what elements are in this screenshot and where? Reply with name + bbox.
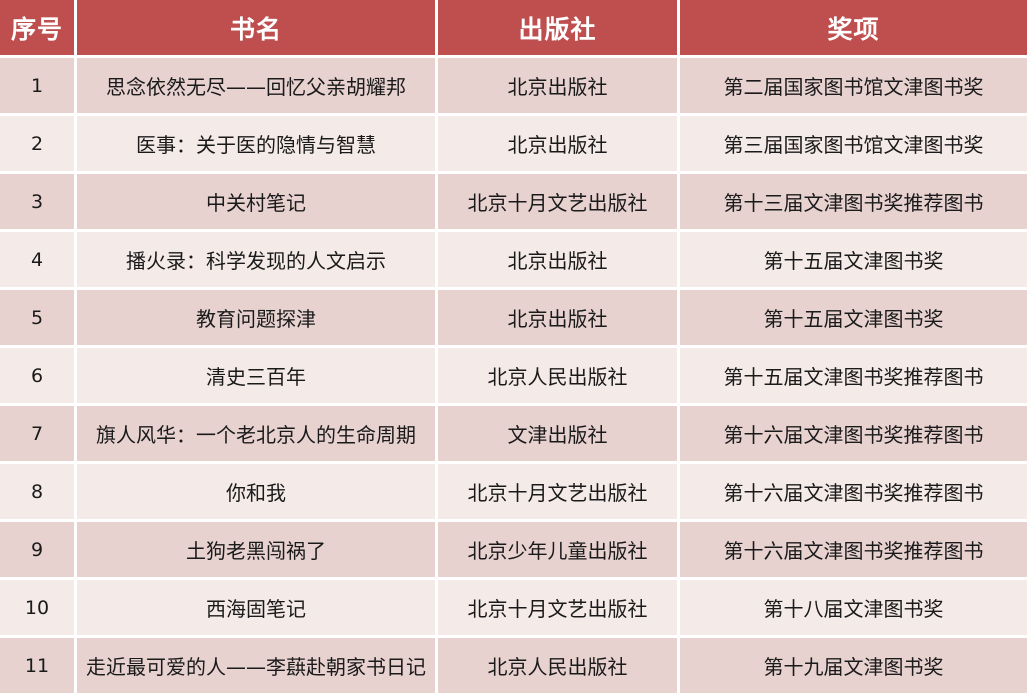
cell-index: 9 <box>0 522 77 580</box>
cell-publisher: 北京出版社 <box>438 232 680 290</box>
cell-award: 第十五届文津图书奖 <box>680 232 1027 290</box>
cell-award: 第二届国家图书馆文津图书奖 <box>680 58 1027 116</box>
table-row: 7旗人风华：一个老北京人的生命周期文津出版社第十六届文津图书奖推荐图书 <box>0 406 1027 464</box>
cell-title: 清史三百年 <box>77 348 438 406</box>
cell-index: 7 <box>0 406 77 464</box>
table-row: 9土狗老黑闯祸了北京少年儿童出版社第十六届文津图书奖推荐图书 <box>0 522 1027 580</box>
table-row: 2医事：关于医的隐情与智慧北京出版社第三届国家图书馆文津图书奖 <box>0 116 1027 174</box>
cell-title: 教育问题探津 <box>77 290 438 348</box>
table-row: 5教育问题探津北京出版社第十五届文津图书奖 <box>0 290 1027 348</box>
cell-index: 11 <box>0 638 77 696</box>
cell-title: 中关村笔记 <box>77 174 438 232</box>
column-header-index: 序号 <box>0 0 77 58</box>
table-header: 序号 书名 出版社 奖项 <box>0 0 1027 58</box>
cell-publisher: 北京人民出版社 <box>438 348 680 406</box>
table-row: 8你和我北京十月文艺出版社第十六届文津图书奖推荐图书 <box>0 464 1027 522</box>
cell-publisher: 北京十月文艺出版社 <box>438 174 680 232</box>
cell-index: 6 <box>0 348 77 406</box>
table-row: 6清史三百年北京人民出版社第十五届文津图书奖推荐图书 <box>0 348 1027 406</box>
table-body: 1思念依然无尽——回忆父亲胡耀邦北京出版社第二届国家图书馆文津图书奖2医事：关于… <box>0 58 1027 696</box>
cell-award: 第十八届文津图书奖 <box>680 580 1027 638</box>
cell-index: 4 <box>0 232 77 290</box>
cell-title: 你和我 <box>77 464 438 522</box>
cell-award: 第十九届文津图书奖 <box>680 638 1027 696</box>
awards-table: 序号 书名 出版社 奖项 1思念依然无尽——回忆父亲胡耀邦北京出版社第二届国家图… <box>0 0 1027 696</box>
table-row: 1思念依然无尽——回忆父亲胡耀邦北京出版社第二届国家图书馆文津图书奖 <box>0 58 1027 116</box>
cell-publisher: 北京出版社 <box>438 290 680 348</box>
cell-index: 5 <box>0 290 77 348</box>
cell-index: 1 <box>0 58 77 116</box>
cell-title: 医事：关于医的隐情与智慧 <box>77 116 438 174</box>
cell-title: 思念依然无尽——回忆父亲胡耀邦 <box>77 58 438 116</box>
column-header-award: 奖项 <box>680 0 1027 58</box>
cell-publisher: 北京出版社 <box>438 58 680 116</box>
cell-publisher: 北京十月文艺出版社 <box>438 580 680 638</box>
cell-publisher: 北京人民出版社 <box>438 638 680 696</box>
cell-publisher: 北京十月文艺出版社 <box>438 464 680 522</box>
cell-award: 第十六届文津图书奖推荐图书 <box>680 522 1027 580</box>
cell-index: 3 <box>0 174 77 232</box>
cell-award: 第十三届文津图书奖推荐图书 <box>680 174 1027 232</box>
cell-publisher: 北京出版社 <box>438 116 680 174</box>
cell-publisher: 北京少年儿童出版社 <box>438 522 680 580</box>
cell-award: 第三届国家图书馆文津图书奖 <box>680 116 1027 174</box>
cell-title: 西海固笔记 <box>77 580 438 638</box>
cell-title: 播火录：科学发现的人文启示 <box>77 232 438 290</box>
cell-publisher: 文津出版社 <box>438 406 680 464</box>
cell-award: 第十五届文津图书奖 <box>680 290 1027 348</box>
cell-title: 走近最可爱的人——李蕻赴朝家书日记 <box>77 638 438 696</box>
cell-index: 2 <box>0 116 77 174</box>
cell-award: 第十六届文津图书奖推荐图书 <box>680 464 1027 522</box>
cell-award: 第十五届文津图书奖推荐图书 <box>680 348 1027 406</box>
table-header-row: 序号 书名 出版社 奖项 <box>0 0 1027 58</box>
column-header-publisher: 出版社 <box>438 0 680 58</box>
table-row: 10西海固笔记北京十月文艺出版社第十八届文津图书奖 <box>0 580 1027 638</box>
table-row: 4播火录：科学发现的人文启示北京出版社第十五届文津图书奖 <box>0 232 1027 290</box>
cell-title: 旗人风华：一个老北京人的生命周期 <box>77 406 438 464</box>
table-row: 3中关村笔记北京十月文艺出版社第十三届文津图书奖推荐图书 <box>0 174 1027 232</box>
table-row: 11走近最可爱的人——李蕻赴朝家书日记北京人民出版社第十九届文津图书奖 <box>0 638 1027 696</box>
column-header-title: 书名 <box>77 0 438 58</box>
cell-index: 8 <box>0 464 77 522</box>
cell-index: 10 <box>0 580 77 638</box>
cell-title: 土狗老黑闯祸了 <box>77 522 438 580</box>
cell-award: 第十六届文津图书奖推荐图书 <box>680 406 1027 464</box>
